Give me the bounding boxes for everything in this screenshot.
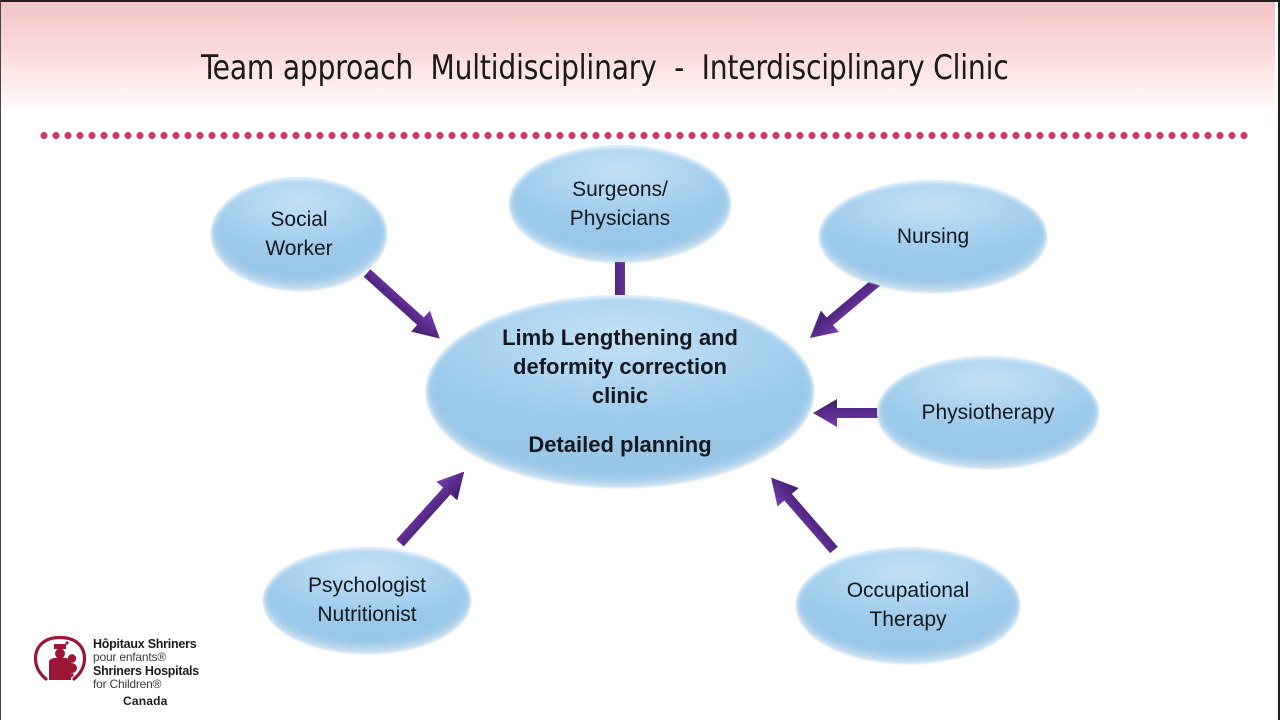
node-physiotherapy[interactable]: Physiotherapy xyxy=(877,356,1099,468)
node-physiotherapy-label: Physiotherapy xyxy=(921,398,1054,427)
node-surgeons-physicians[interactable]: Surgeons/ Physicians xyxy=(509,145,731,262)
team-approach-diagram: Limb Lengthening and deformity correctio… xyxy=(1,120,1280,720)
node-nursing[interactable]: Nursing xyxy=(819,180,1047,292)
logo-country-label: Canada xyxy=(123,694,168,708)
shriners-emblem-icon xyxy=(31,634,89,688)
node-center-subtitle: Detailed planning xyxy=(528,430,711,459)
node-limb-lengthening-clinic[interactable]: Limb Lengthening and deformity correctio… xyxy=(426,295,814,487)
logo-line-pour-enfants: pour enfants® xyxy=(93,651,263,665)
node-psychologist-nutritionist[interactable]: Psychologist Nutritionist xyxy=(263,547,471,653)
node-nursing-label: Nursing xyxy=(897,222,969,251)
node-psychologist-nutritionist-label: Psychologist Nutritionist xyxy=(308,571,426,629)
shriners-hospitals-logo: Hôpitaux Shriners pour enfants® Shriners… xyxy=(31,632,261,712)
presentation-slide: Team approach Multidisciplinary - Interd… xyxy=(0,0,1280,720)
logo-line-for-children: for Children® xyxy=(93,678,263,692)
node-occupational-therapy[interactable]: Occupational Therapy xyxy=(796,547,1020,663)
slide-title: Team approach Multidisciplinary - Interd… xyxy=(201,46,1029,90)
arrow-occupational-therapy-to-center xyxy=(760,468,844,559)
arrow-social-worker-to-center xyxy=(358,263,450,349)
node-surgeons-physicians-label: Surgeons/ Physicians xyxy=(570,175,670,233)
arrow-physiotherapy-to-center xyxy=(813,399,879,427)
node-social-worker[interactable]: Social Worker xyxy=(211,177,387,290)
node-occupational-therapy-label: Occupational Therapy xyxy=(847,576,970,634)
logo-wordmark: Hôpitaux Shriners pour enfants® Shriners… xyxy=(93,638,263,691)
node-center-title: Limb Lengthening and deformity correctio… xyxy=(468,323,772,410)
arrow-psychologist-to-center xyxy=(390,462,475,552)
logo-line-shriners-hospitals: Shriners Hospitals xyxy=(93,665,263,678)
node-social-worker-label: Social Worker xyxy=(265,205,332,263)
